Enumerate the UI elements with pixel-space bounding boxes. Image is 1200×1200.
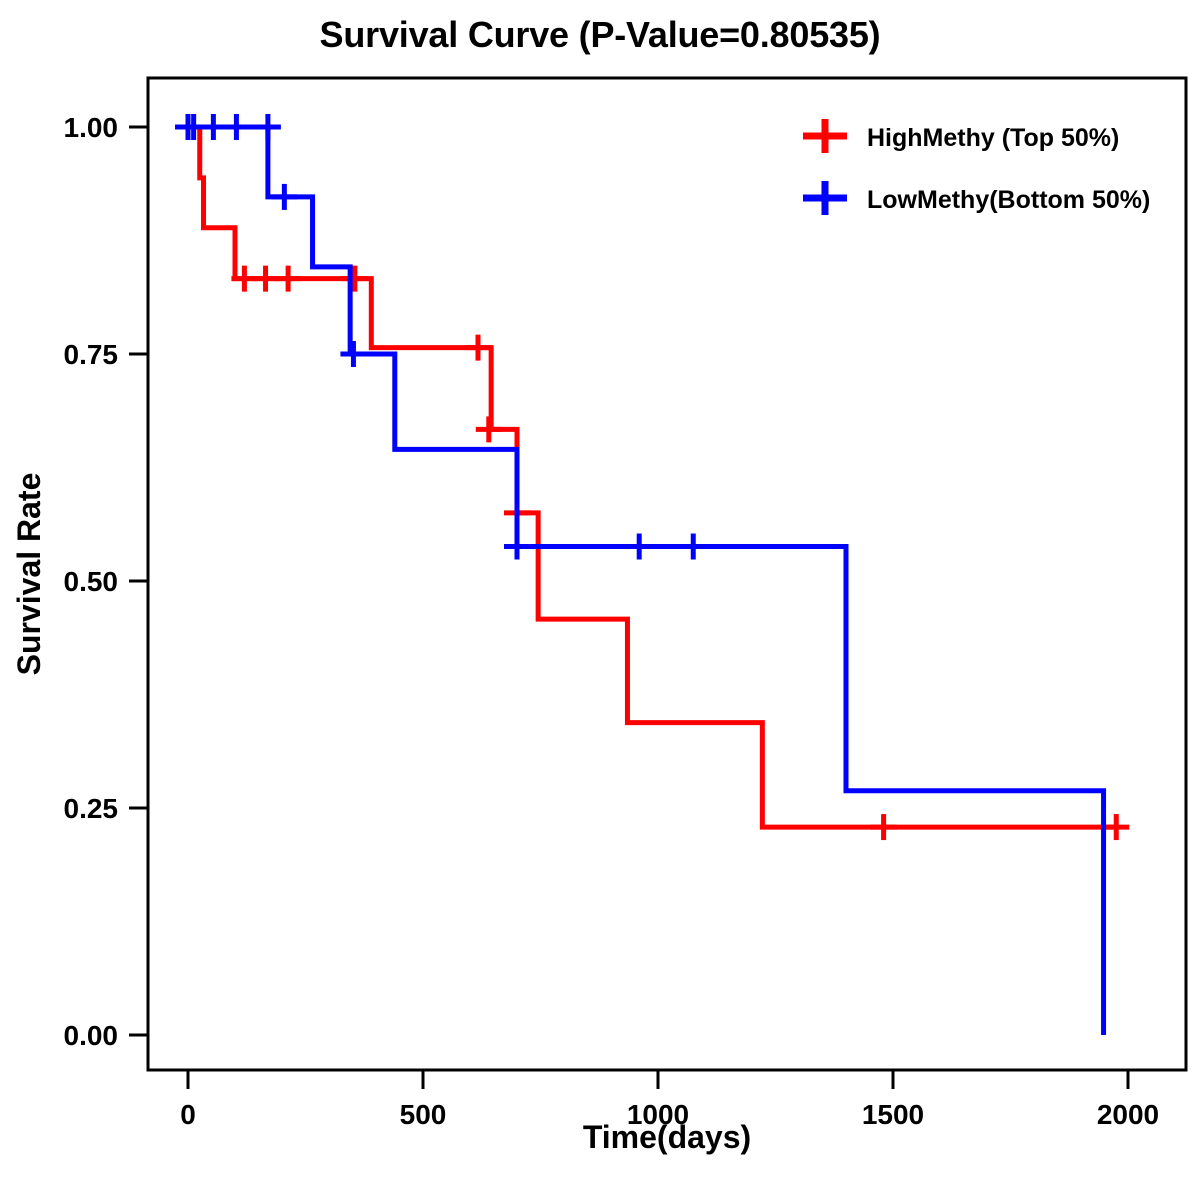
plot-canvas: 0500100015002000 0.000.250.500.751.00 Ti… — [0, 0, 1200, 1200]
series-lowmethy — [175, 114, 1104, 1035]
legend-label: LowMethy(Bottom 50%) — [867, 186, 1150, 214]
x-tick-label: 500 — [400, 1099, 447, 1130]
legend-item: LowMethy(Bottom 50%) — [803, 181, 1150, 215]
y-tick-label: 0.75 — [64, 339, 119, 370]
chart-legend: HighMethy (Top 50%)LowMethy(Bottom 50%) — [803, 119, 1150, 215]
plus-marker — [803, 119, 847, 153]
y-tick-label: 0.00 — [64, 1020, 119, 1051]
series-layer — [175, 114, 1129, 1035]
y-tick-label: 1.00 — [64, 112, 119, 143]
step-line — [188, 127, 1104, 1035]
plot-frame — [148, 78, 1186, 1070]
y-tick-label: 0.50 — [64, 566, 119, 597]
x-tick-label: 2000 — [1097, 1099, 1159, 1130]
survival-curve-figure: Survival Curve (P-Value=0.80535) 0500100… — [0, 0, 1200, 1200]
y-axis-ticks: 0.000.250.500.751.00 — [64, 112, 149, 1051]
plus-marker — [803, 181, 847, 215]
y-tick-label: 0.25 — [64, 793, 119, 824]
legend-item: HighMethy (Top 50%) — [803, 119, 1119, 153]
series-highmethy — [188, 127, 1129, 840]
x-tick-label: 1500 — [862, 1099, 924, 1130]
x-axis-title: Time(days) — [583, 1119, 751, 1155]
step-line — [188, 127, 1119, 827]
legend-label: HighMethy (Top 50%) — [867, 124, 1119, 152]
y-axis-title: Survival Rate — [11, 473, 47, 676]
x-tick-label: 0 — [180, 1099, 196, 1130]
